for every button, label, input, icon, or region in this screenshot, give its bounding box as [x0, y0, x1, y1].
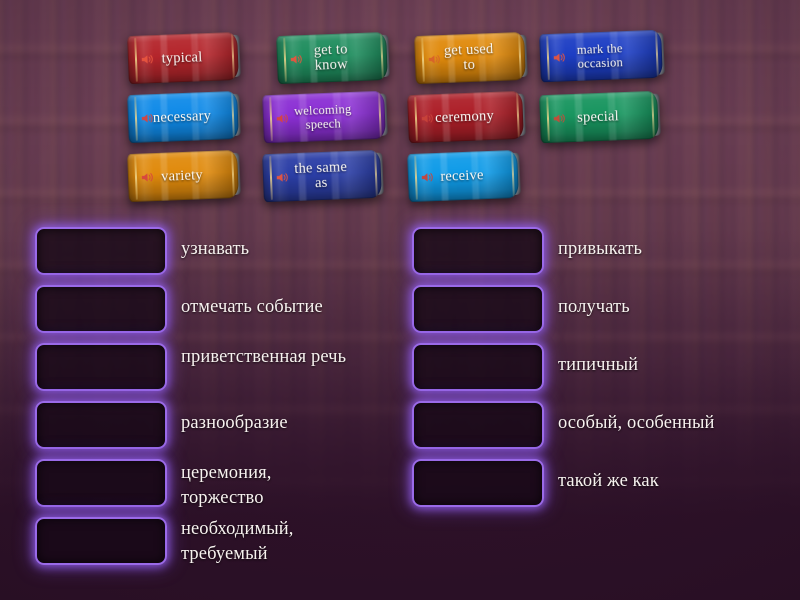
- answer-text: особый, особенный: [558, 401, 715, 436]
- game-stage: typical get to know get used to: [0, 0, 800, 600]
- answer-text: необходимый, требуемый: [181, 517, 356, 567]
- answer-text: привыкать: [558, 227, 642, 262]
- answer-text: получать: [558, 285, 630, 320]
- answer-row: особый, особенный: [412, 401, 715, 449]
- drop-slot[interactable]: [412, 227, 544, 275]
- answer-text: приветственная речь: [181, 343, 346, 370]
- answer-row: разнообразие: [35, 401, 288, 449]
- drop-slot[interactable]: [35, 401, 167, 449]
- answer-row: необходимый, требуемый: [35, 517, 356, 567]
- answer-row: получать: [412, 285, 630, 333]
- answer-row: типичный: [412, 343, 638, 391]
- drop-slot[interactable]: [412, 285, 544, 333]
- drop-slot[interactable]: [35, 285, 167, 333]
- answer-row: церемония, торжество: [35, 459, 341, 511]
- answer-row: такой же как: [412, 459, 659, 507]
- answer-text: такой же как: [558, 459, 659, 494]
- drop-slot[interactable]: [35, 517, 167, 565]
- drop-slot[interactable]: [35, 459, 167, 507]
- drop-slot[interactable]: [35, 227, 167, 275]
- answer-text: церемония, торжество: [181, 459, 341, 511]
- answer-text: отмечать событие: [181, 285, 323, 320]
- drop-slot[interactable]: [412, 459, 544, 507]
- answer-row: привыкать: [412, 227, 642, 275]
- answer-columns: узнавать отмечать событие приветственная…: [0, 0, 800, 600]
- answer-text: разнообразие: [181, 401, 288, 436]
- answer-text: узнавать: [181, 227, 249, 262]
- answer-row: отмечать событие: [35, 285, 323, 333]
- answer-text: типичный: [558, 343, 638, 378]
- answer-row: приветственная речь: [35, 343, 346, 391]
- drop-slot[interactable]: [412, 343, 544, 391]
- drop-slot[interactable]: [412, 401, 544, 449]
- answer-row: узнавать: [35, 227, 249, 275]
- drop-slot[interactable]: [35, 343, 167, 391]
